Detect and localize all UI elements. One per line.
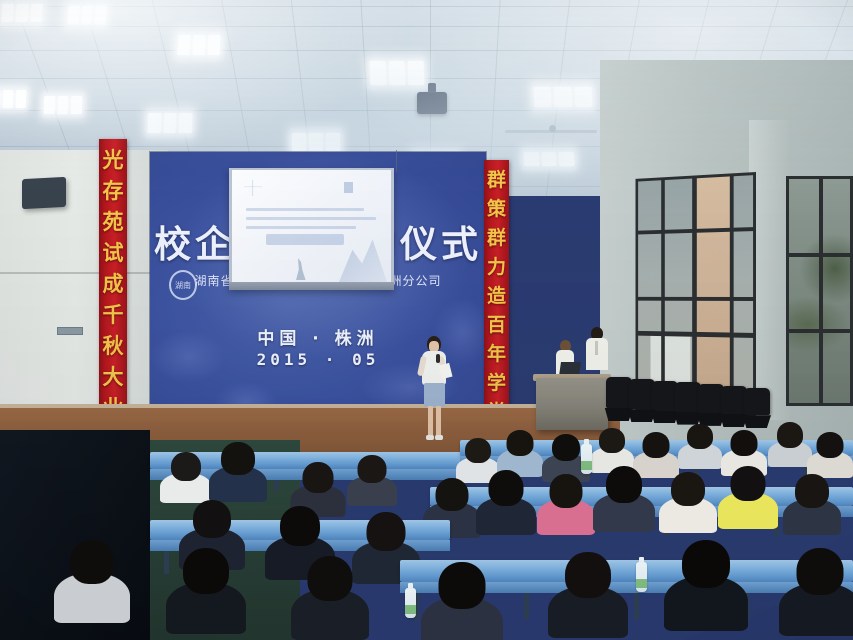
ceiling-light-panel — [367, 56, 426, 90]
couplet-char: 百 — [487, 311, 506, 340]
couplet-char: 光 — [103, 145, 124, 176]
audience-member-head — [682, 540, 730, 588]
audience-member — [421, 562, 503, 640]
audience-member-head — [550, 474, 583, 508]
presenter — [418, 336, 450, 440]
audience-member-head — [565, 552, 611, 598]
wall-sign — [57, 327, 83, 335]
presenter-shoe — [426, 435, 434, 440]
couplet-char: 苑 — [103, 207, 124, 238]
water-bottle — [405, 588, 416, 618]
audience-member — [347, 455, 397, 513]
audience-member-head — [671, 472, 705, 506]
lecture-hall-photo: 校企合作签约仪式 湖南 湖南省测绘科技研究院有限公司株洲分公司 中国 · 株洲 … — [0, 0, 853, 640]
slide-heading — [266, 234, 344, 245]
audience-member — [783, 474, 841, 544]
audience-member-head — [643, 432, 670, 458]
couplet-char: 群 — [487, 224, 506, 253]
audience-member — [678, 424, 722, 475]
audience-member-head — [303, 462, 334, 493]
slide-mountain-icon — [339, 236, 387, 282]
couplet-char: 成 — [103, 269, 124, 300]
audience-member-head — [507, 430, 534, 456]
ceiling-light-panel — [175, 30, 223, 60]
ceiling-projector-icon — [417, 92, 447, 114]
wall-speaker-icon — [22, 177, 66, 209]
podium-desk — [536, 378, 608, 430]
audience-member-head — [777, 422, 803, 448]
ceiling-light-panel — [521, 148, 576, 170]
audience-member-head — [439, 562, 486, 609]
water-bottle — [636, 562, 647, 592]
couplet-banner-right: 群策群力造百年学堂 — [484, 160, 509, 428]
audience-member-head — [817, 432, 844, 458]
audience-member-head — [731, 466, 766, 501]
couplet-char: 策 — [487, 195, 506, 224]
presenter-leg — [428, 406, 433, 436]
ceiling-grid-line — [0, 50, 853, 51]
ceiling-light-panel — [65, 2, 109, 28]
screen-cord — [396, 150, 397, 172]
ceiling-light-panel — [531, 82, 595, 112]
audience-member — [537, 474, 595, 544]
lanyard — [595, 341, 598, 355]
audience-member — [548, 552, 628, 640]
ceiling-light-panel — [42, 92, 85, 118]
audience-member-head — [358, 455, 387, 483]
couplet-char: 群 — [487, 166, 506, 195]
couplet-char: 学 — [487, 369, 506, 398]
couplet-char: 千 — [103, 300, 124, 331]
projection-screen-bottom-bar — [229, 282, 394, 290]
presenter-shoe — [435, 435, 443, 440]
ceiling-light-panel — [145, 108, 194, 138]
audience-member-head — [795, 474, 829, 508]
couplet-char: 年 — [487, 340, 506, 369]
audience-member — [659, 472, 717, 542]
window-glass-outer — [786, 176, 853, 406]
ceiling-grid-line — [0, 26, 853, 27]
ceiling-fan-icon — [505, 130, 597, 133]
slide-bird-icon — [290, 258, 310, 280]
presenter-leg — [436, 406, 441, 436]
audience-member-head — [465, 438, 491, 463]
audience-member — [779, 548, 853, 640]
chair-row — [606, 344, 796, 424]
audience-member-head — [797, 548, 844, 595]
couplet-banner-left: 光存苑试成千秋大业 — [99, 139, 127, 424]
chair — [744, 388, 770, 415]
audience-member — [166, 548, 246, 640]
audience-member-head — [221, 442, 255, 475]
audience-member-head — [193, 500, 231, 538]
slide-seal-icon — [244, 180, 262, 196]
audience-member-head — [606, 466, 642, 503]
ceiling-light-panel — [0, 0, 45, 26]
audience-member-head — [70, 540, 114, 584]
audience-member-head — [171, 452, 201, 481]
couplet-char: 试 — [103, 238, 124, 269]
audience-member — [718, 466, 778, 538]
audience-member — [476, 470, 536, 544]
couplet-char: 造 — [487, 282, 506, 311]
couplet-char: 存 — [103, 176, 124, 207]
audience-member-head — [731, 430, 758, 456]
audience-member-head — [552, 434, 580, 461]
audience-member-head — [489, 470, 524, 506]
projection-screen — [232, 170, 391, 282]
water-bottle — [581, 444, 592, 474]
audience-member — [291, 556, 369, 640]
couplet-char: 力 — [487, 253, 506, 282]
audience-member-head — [367, 512, 406, 551]
audience-member-head — [599, 428, 625, 453]
audience-member — [54, 540, 130, 634]
audience-member-head — [183, 548, 229, 594]
podium-person-standing — [586, 327, 608, 380]
ceiling-grid-line — [0, 6, 853, 7]
presenter-skirt — [424, 383, 445, 407]
slide-mark-icon — [344, 182, 353, 193]
audience-member-head — [280, 506, 320, 546]
couplet-char: 大 — [103, 362, 124, 393]
couplet-char: 秋 — [103, 331, 124, 362]
audience-member — [664, 540, 748, 640]
microphone-icon — [436, 354, 440, 363]
audience-member — [593, 466, 655, 542]
audience-member-head — [308, 556, 353, 601]
audience-member-head — [687, 424, 713, 449]
ceiling-light-panel — [0, 86, 28, 112]
audience-member-head — [436, 478, 469, 511]
